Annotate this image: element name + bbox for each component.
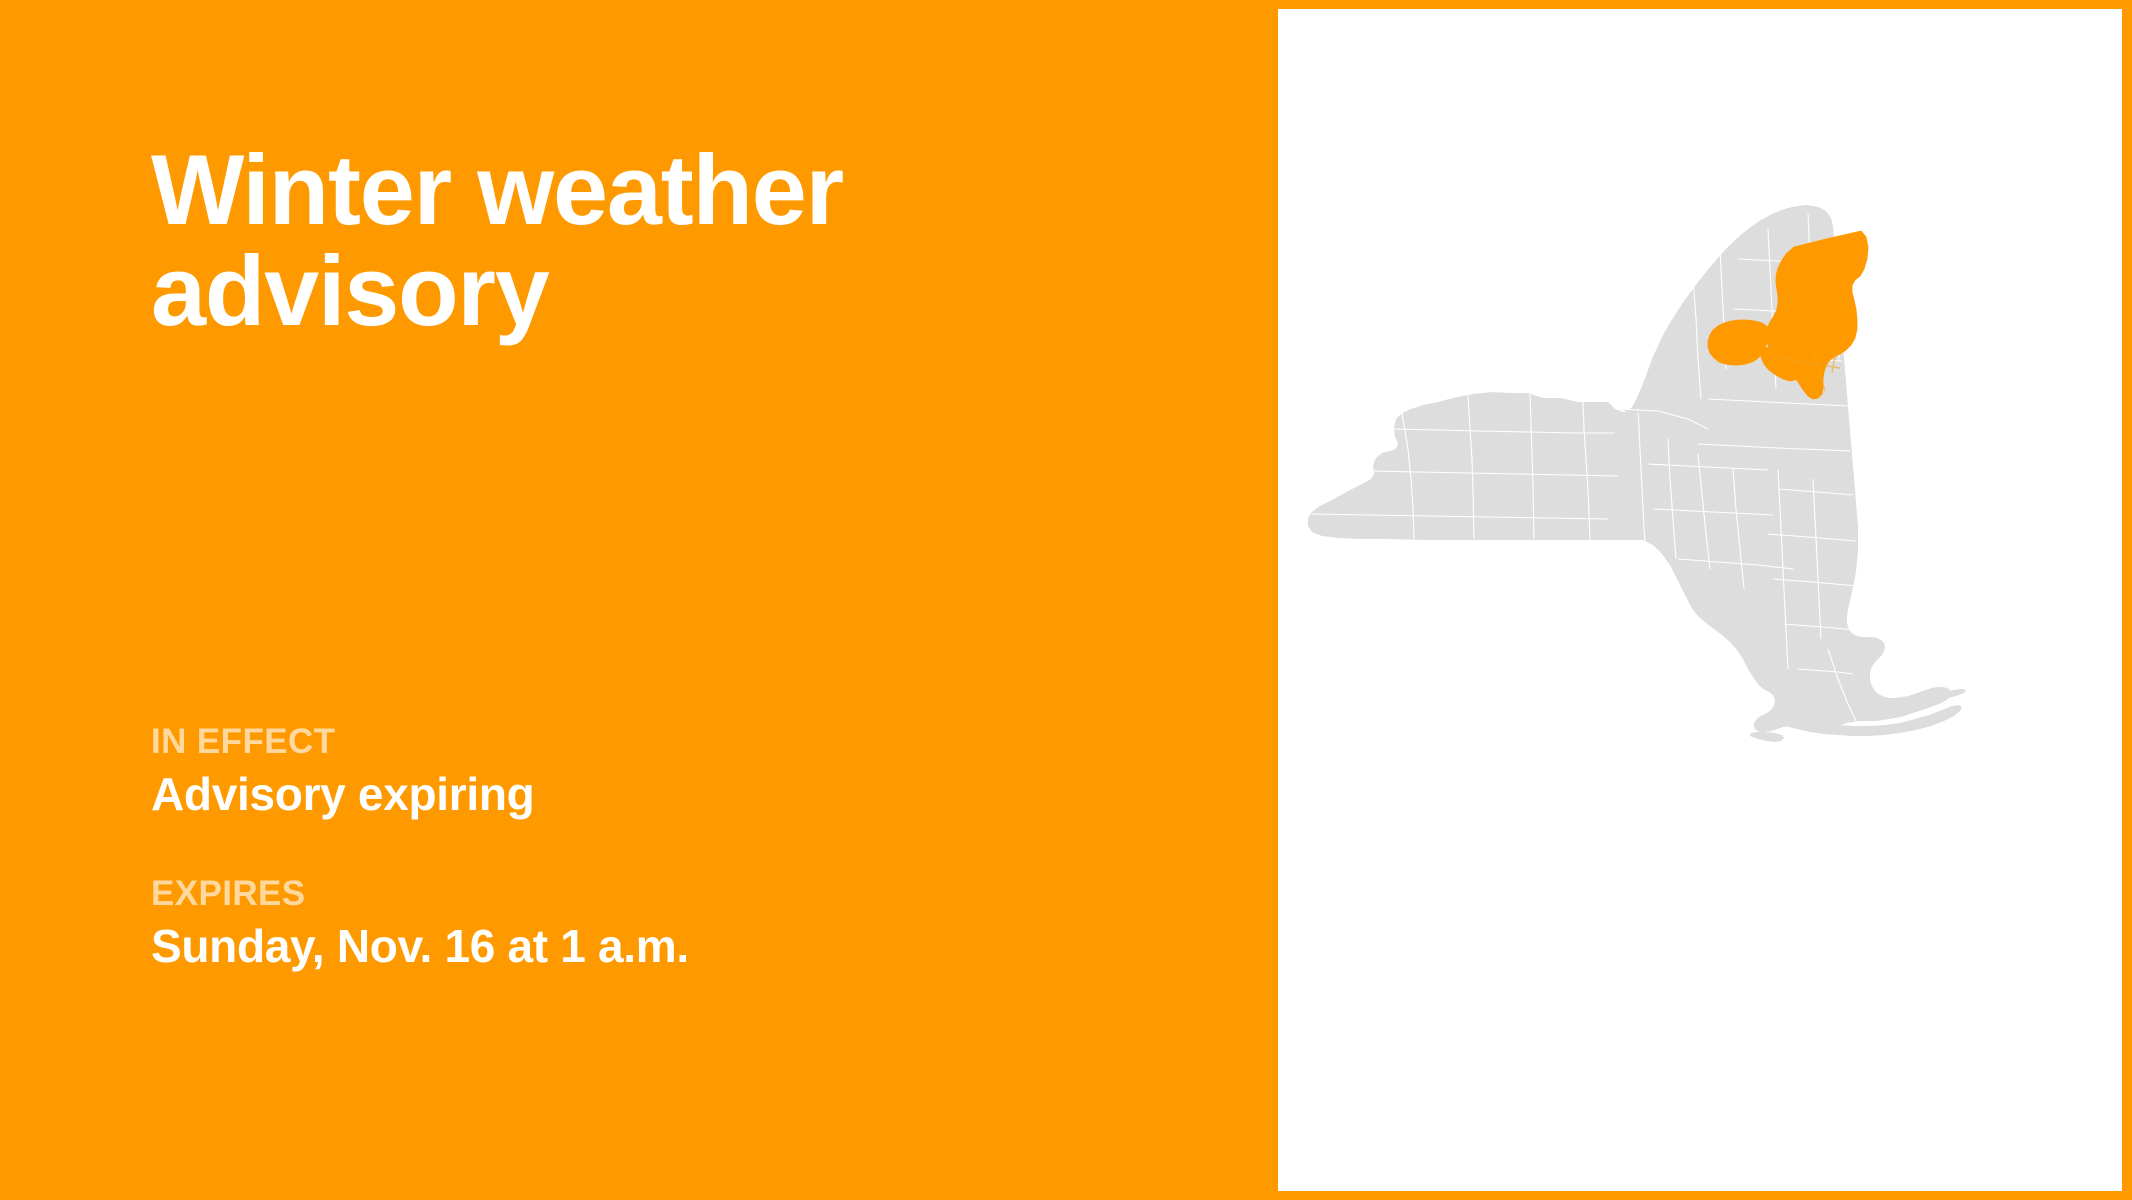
alert-text-panel: Winter weather advisory IN EFFECT Adviso… [0,0,1278,1200]
detail-label-expires: EXPIRES [151,875,1151,913]
detail-value-in-effect: Advisory expiring [151,769,1151,820]
new-york-state-map [1278,9,2122,1191]
weather-alert-card: Winter weather advisory IN EFFECT Adviso… [0,0,2132,1200]
state-silhouette [1308,205,1951,732]
page-title: Winter weather advisory [151,140,1071,342]
detail-value-expires: Sunday, Nov. 16 at 1 a.m. [151,921,1151,972]
detail-in-effect: IN EFFECT Advisory expiring [151,723,1151,819]
detail-label-in-effect: IN EFFECT [151,723,1151,761]
map-panel [1278,9,2122,1191]
detail-expires: EXPIRES Sunday, Nov. 16 at 1 a.m. [151,875,1151,971]
alert-details-list: IN EFFECT Advisory expiring EXPIRES Sund… [151,723,1151,972]
